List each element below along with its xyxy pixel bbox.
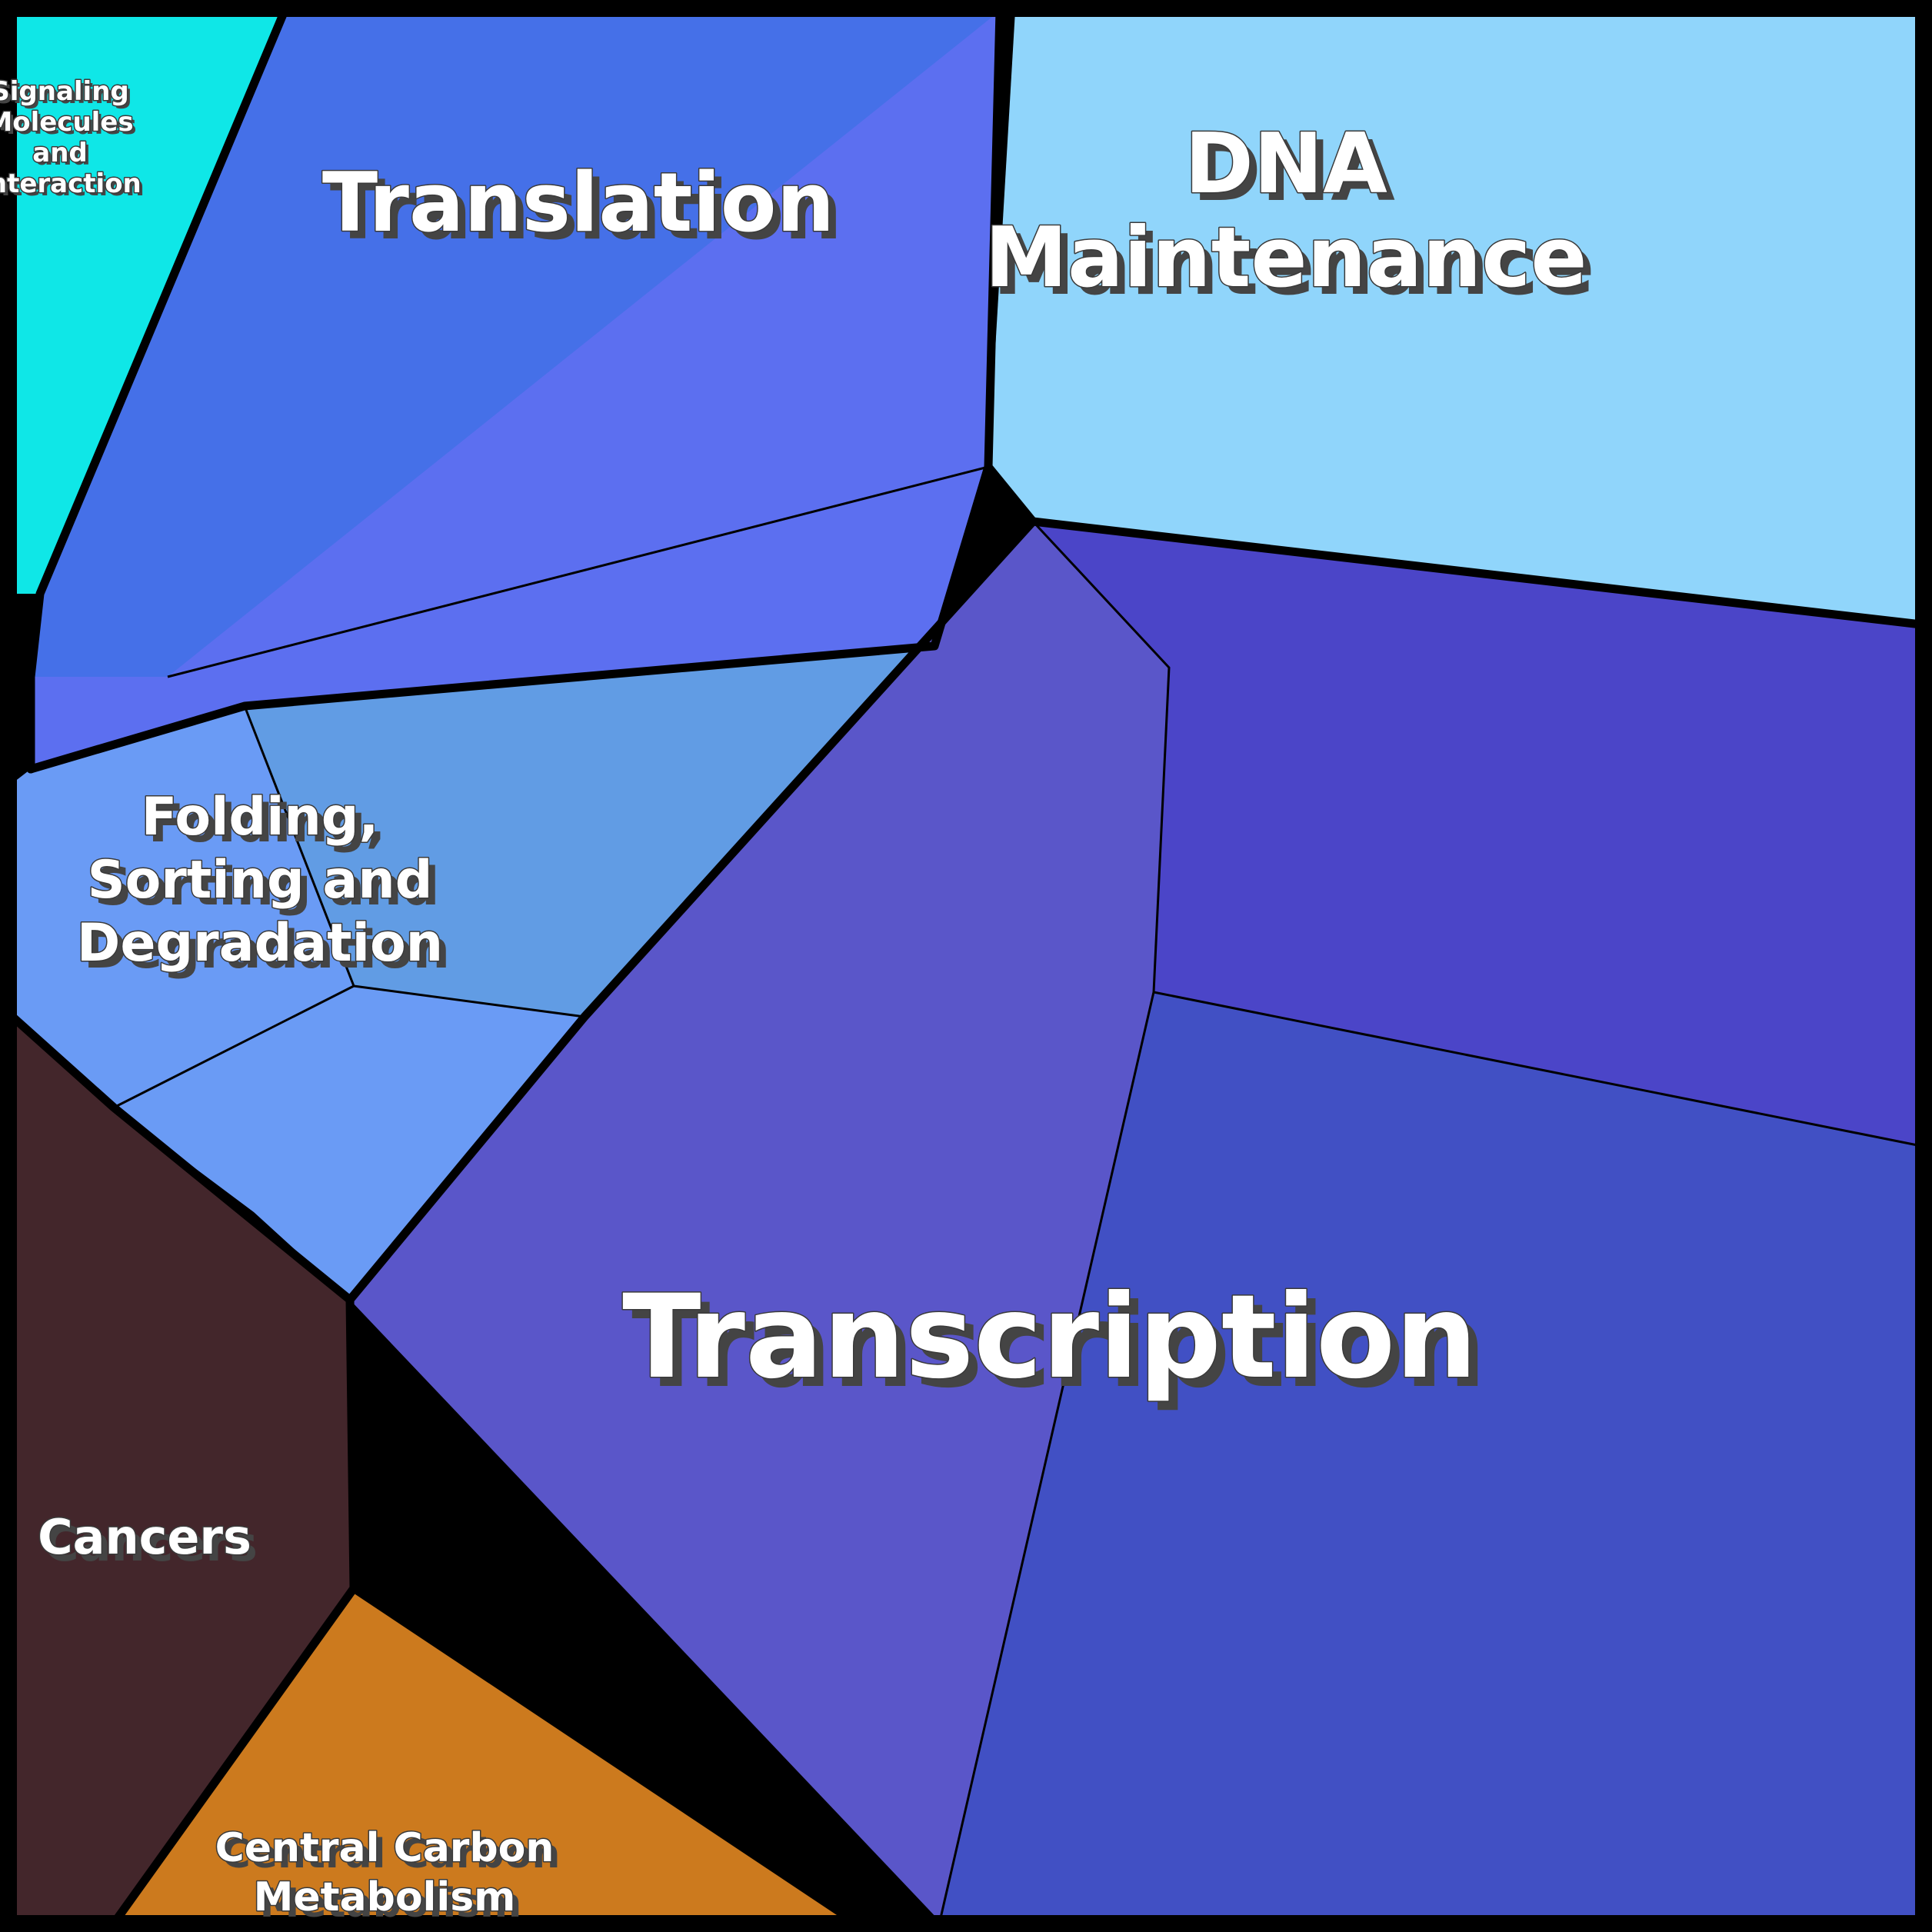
voronoi-treemap-figure: Signaling Molecules and Interaction Sign… bbox=[0, 0, 1932, 1932]
label-carbon-l1: Metabolism bbox=[254, 1874, 516, 1920]
label-dna-l0: DNA bbox=[1184, 116, 1387, 212]
label-signaling-l3: Interaction bbox=[0, 168, 142, 199]
label-signaling-l0: Signaling bbox=[0, 76, 129, 107]
label-translation-text: Translation bbox=[322, 155, 834, 250]
label-translation: Translation Translation bbox=[322, 155, 842, 258]
label-folding-l2: Degradation bbox=[77, 913, 443, 974]
label-carbon-l0: Central Carbon bbox=[215, 1825, 555, 1871]
label-signaling-l1: Molecules bbox=[0, 107, 134, 138]
label-transcription-text: Transcription bbox=[622, 1271, 1477, 1404]
label-signaling-l2: and bbox=[32, 138, 88, 168]
label-cancers-text: Cancers bbox=[38, 1509, 251, 1565]
edge-cancers-transcription bbox=[350, 1300, 354, 1588]
label-cancers: Cancers Cancers bbox=[38, 1509, 258, 1572]
label-dna-l1: Maintenance bbox=[984, 210, 1587, 306]
label-folding-l0: Folding, bbox=[142, 787, 379, 848]
label-folding-l1: Sorting and bbox=[88, 850, 433, 911]
label-transcription: Transcription Transcription bbox=[622, 1271, 1487, 1414]
label-signaling-molecules-and-interaction: Signaling Molecules and Interaction Sign… bbox=[0, 76, 145, 202]
label-central-carbon-metabolism: Central Carbon Metabolism Central Carbon… bbox=[215, 1825, 561, 1927]
